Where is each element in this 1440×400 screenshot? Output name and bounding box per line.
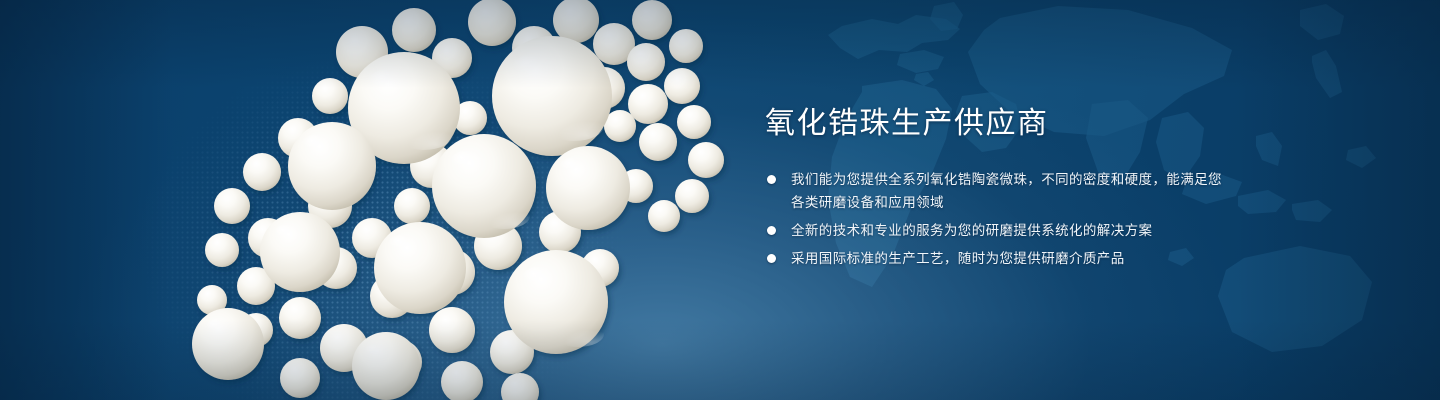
- bullet-dot-icon: [767, 175, 776, 184]
- bullet-dot-icon: [767, 226, 776, 235]
- banner-copy: 氧化锆珠生产供应商 我们能为您提供全系列氧化锆陶瓷微珠，不同的密度和硬度，能满足…: [765, 104, 1235, 270]
- banner-headline: 氧化锆珠生产供应商: [765, 104, 1235, 144]
- feature-bullet-2-text: 全新的技术和专业的服务为您的研磨提供系统化的解决方案: [791, 219, 1235, 242]
- feature-bullet-3: 采用国际标准的生产工艺，随时为您提供研磨介质产品: [765, 247, 1235, 270]
- feature-bullet-1-text: 我们能为您提供全系列氧化锆陶瓷微珠，不同的密度和硬度，能满足您各类研磨设备和应用…: [791, 168, 1235, 214]
- bullet-dot-icon: [767, 254, 776, 263]
- feature-bullet-1: 我们能为您提供全系列氧化锆陶瓷微珠，不同的密度和硬度，能满足您各类研磨设备和应用…: [765, 168, 1235, 214]
- feature-bullet-3-text: 采用国际标准的生产工艺，随时为您提供研磨介质产品: [791, 247, 1235, 270]
- hero-banner: 氧化锆珠生产供应商 我们能为您提供全系列氧化锆陶瓷微珠，不同的密度和硬度，能满足…: [0, 0, 1440, 400]
- feature-bullet-2: 全新的技术和专业的服务为您的研磨提供系统化的解决方案: [765, 219, 1235, 242]
- feature-bullet-list: 我们能为您提供全系列氧化锆陶瓷微珠，不同的密度和硬度，能满足您各类研磨设备和应用…: [765, 168, 1235, 270]
